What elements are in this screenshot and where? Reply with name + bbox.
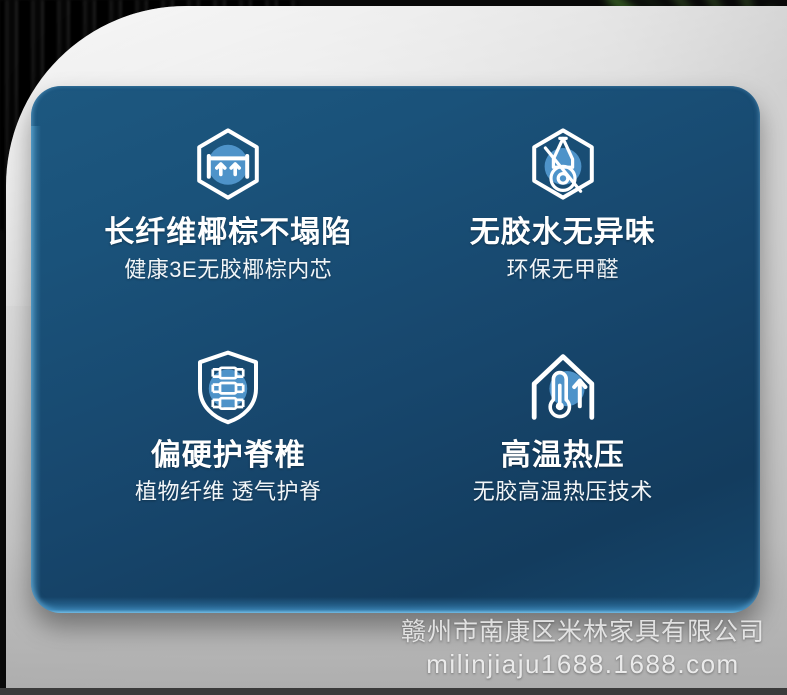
- feature-title: 长纤维椰棕不塌陷: [104, 216, 352, 251]
- feature-item-3: 高温热压 无胶高温热压技术: [396, 341, 731, 558]
- mattress-uplift-hexagon-icon: [188, 124, 268, 204]
- feature-subtitle: 环保无甲醛: [506, 256, 619, 285]
- feature-title: 偏硬护脊椎: [151, 439, 306, 474]
- feature-subtitle: 健康3E无胶椰棕内芯: [124, 256, 332, 285]
- product-detail-image: 长纤维椰棕不塌陷 健康3E无胶椰棕内芯 无胶水无异味 环保无甲醛: [0, 0, 787, 695]
- feature-item-0: 长纤维椰棕不塌陷 健康3E无胶椰棕内芯: [61, 124, 396, 341]
- feature-title: 无胶水无异味: [470, 216, 656, 251]
- no-glue-bottle-hexagon-icon: [523, 124, 603, 204]
- feature-item-1: 无胶水无异味 环保无甲醛: [396, 124, 731, 341]
- feature-item-2: 偏硬护脊椎 植物纤维 透气护脊: [61, 341, 396, 558]
- feature-subtitle: 无胶高温热压技术: [473, 478, 653, 507]
- feature-grid: 长纤维椰棕不塌陷 健康3E无胶椰棕内芯 无胶水无异味 环保无甲醛: [31, 86, 760, 613]
- feature-card: 长纤维椰棕不塌陷 健康3E无胶椰棕内芯 无胶水无异味 环保无甲醛: [31, 86, 760, 613]
- bottom-strip: [0, 688, 787, 695]
- feature-title: 高温热压: [501, 439, 625, 474]
- feature-subtitle: 植物纤维 透气护脊: [135, 478, 322, 507]
- spine-shield-icon: [188, 347, 268, 427]
- house-thermometer-icon: [523, 347, 603, 427]
